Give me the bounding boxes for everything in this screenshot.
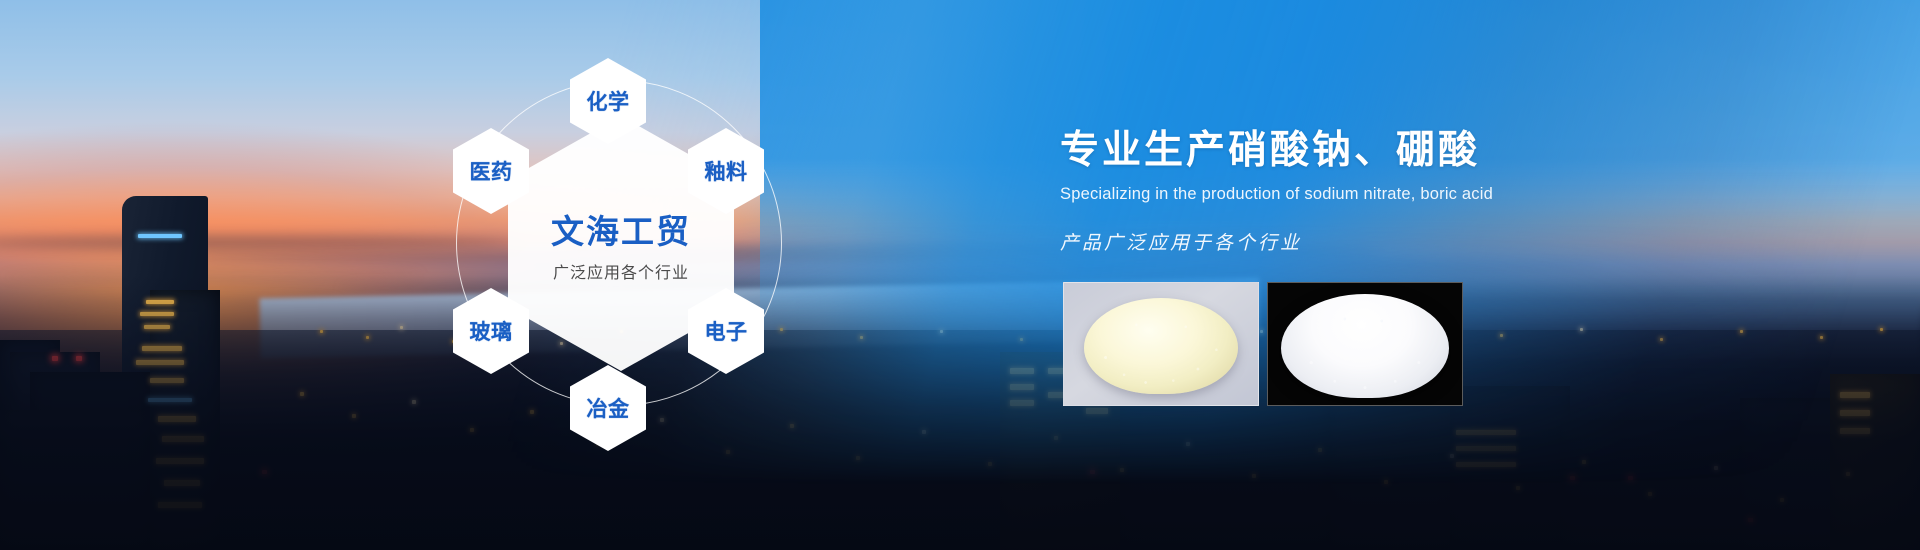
hex-node-label: 冶金 <box>587 393 630 423</box>
product-photo-sodium-nitrate <box>1063 282 1259 406</box>
hex-node-label: 玻璃 <box>470 316 513 346</box>
industry-hex-diagram: 文海工贸 广泛应用各个行业 化学 釉料 电子 冶金 玻璃 医药 <box>420 20 840 530</box>
promotional-banner: 文海工贸 广泛应用各个行业 化学 釉料 电子 冶金 玻璃 医药 专业生产硝酸钠、… <box>0 0 1920 550</box>
powder-pile <box>1281 294 1449 398</box>
tagline: 产品广泛应用于各个行业 <box>1060 228 1780 255</box>
hex-node-label: 釉料 <box>705 156 748 186</box>
powder-pile <box>1084 298 1238 394</box>
headline: 专业生产硝酸钠、硼酸 <box>1060 128 1780 174</box>
product-photo-boric-acid <box>1267 282 1463 406</box>
hex-node-label: 电子 <box>705 316 748 346</box>
brand-title: 文海工贸 <box>551 205 691 253</box>
blue-sky-blend <box>0 0 1920 550</box>
hex-node-label: 医药 <box>470 156 513 186</box>
brand-subtitle: 广泛应用各个行业 <box>553 259 689 283</box>
subheadline: Specializing in the production of sodium… <box>1060 185 1780 204</box>
headline-block: 专业生产硝酸钠、硼酸 Specializing in the productio… <box>1060 128 1780 255</box>
hex-node-label: 化学 <box>587 86 630 116</box>
product-photo-group <box>1063 282 1463 406</box>
